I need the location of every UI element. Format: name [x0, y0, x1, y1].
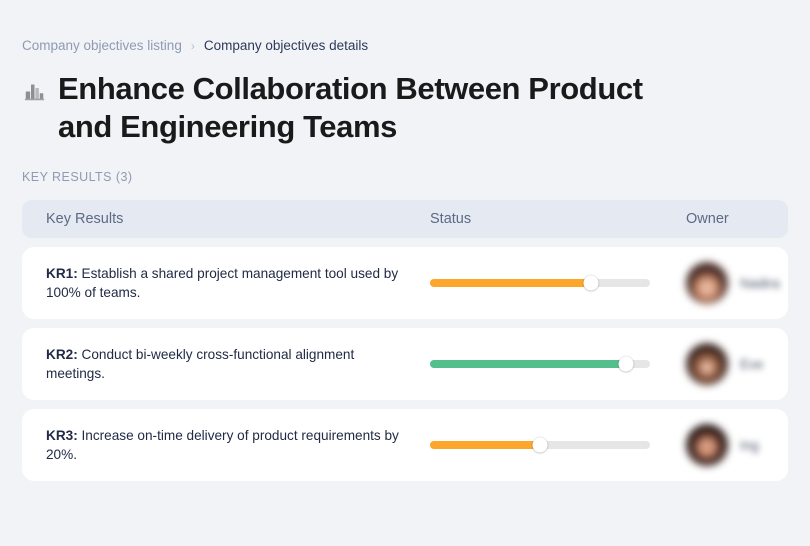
avatar	[686, 262, 728, 304]
owner-name: Ing	[740, 438, 759, 453]
key-result-id: KR3:	[46, 428, 78, 443]
progress-fill	[430, 279, 591, 287]
key-results-table: Key Results Status Owner KR1: Establish …	[22, 200, 788, 481]
key-result-id: KR1:	[46, 266, 78, 281]
owner-cell: Nadira	[686, 262, 788, 304]
breadcrumb-link-listing[interactable]: Company objectives listing	[22, 38, 182, 53]
page-title-row: Enhance Collaboration Between Product an…	[22, 70, 788, 146]
owner-cell: Ing	[686, 424, 788, 466]
key-results-section-label: KEY RESULTS (3)	[22, 170, 788, 184]
column-header-owner: Owner	[686, 211, 788, 227]
breadcrumb: Company objectives listing › Company obj…	[22, 0, 788, 53]
progress-thumb[interactable]	[618, 357, 633, 372]
progress-slider[interactable]	[430, 441, 650, 449]
status-cell	[430, 441, 686, 449]
progress-thumb[interactable]	[533, 438, 548, 453]
key-result-description: Establish a shared project management to…	[46, 266, 398, 301]
progress-fill	[430, 441, 540, 449]
owner-name: Nadira	[740, 276, 780, 291]
key-result-text: KR3: Increase on-time delivery of produc…	[46, 426, 430, 465]
building-icon	[22, 76, 46, 106]
status-cell	[430, 360, 686, 368]
progress-fill	[430, 360, 626, 368]
progress-slider[interactable]	[430, 279, 650, 287]
avatar	[686, 343, 728, 385]
avatar	[686, 424, 728, 466]
key-result-text: KR2: Conduct bi-weekly cross-functional …	[46, 345, 430, 384]
breadcrumb-current-details: Company objectives details	[204, 38, 368, 53]
column-header-status: Status	[430, 211, 686, 227]
key-result-text: KR1: Establish a shared project manageme…	[46, 264, 430, 303]
owner-cell: Eve	[686, 343, 788, 385]
page-title: Enhance Collaboration Between Product an…	[58, 70, 698, 146]
progress-thumb[interactable]	[583, 276, 598, 291]
key-result-description: Increase on-time delivery of product req…	[46, 428, 399, 463]
status-cell	[430, 279, 686, 287]
key-result-cell: KR3: Increase on-time delivery of produc…	[46, 426, 430, 465]
key-result-cell: KR2: Conduct bi-weekly cross-functional …	[46, 345, 430, 384]
table-header-row: Key Results Status Owner	[22, 200, 788, 238]
key-result-cell: KR1: Establish a shared project manageme…	[46, 264, 430, 303]
chevron-right-icon: ›	[191, 40, 195, 52]
column-header-key-results: Key Results	[46, 211, 430, 227]
key-result-description: Conduct bi-weekly cross-functional align…	[46, 347, 354, 382]
objective-details-page: Company objectives listing › Company obj…	[0, 0, 810, 546]
table-row[interactable]: KR3: Increase on-time delivery of produc…	[22, 409, 788, 481]
owner-name: Eve	[740, 357, 763, 372]
key-result-id: KR2:	[46, 347, 78, 362]
table-row[interactable]: KR2: Conduct bi-weekly cross-functional …	[22, 328, 788, 400]
table-row[interactable]: KR1: Establish a shared project manageme…	[22, 247, 788, 319]
progress-slider[interactable]	[430, 360, 650, 368]
